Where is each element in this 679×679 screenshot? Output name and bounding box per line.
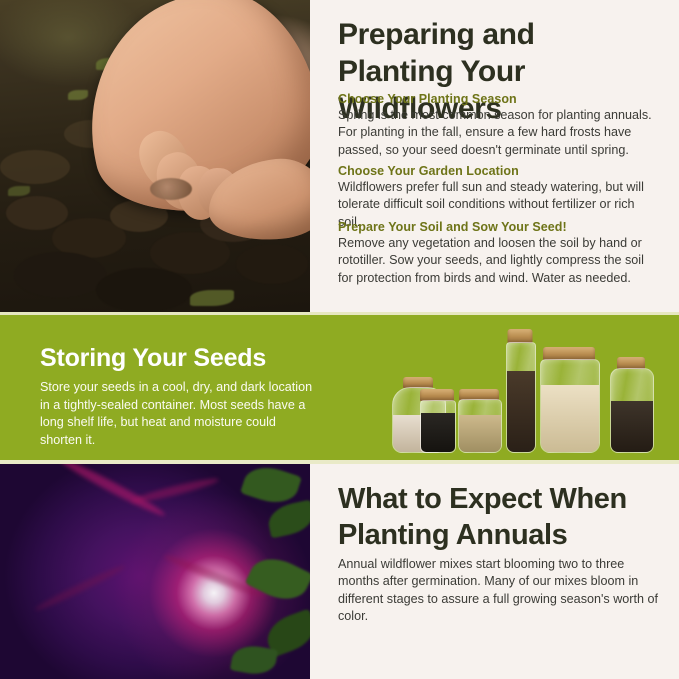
divider-top xyxy=(0,312,679,315)
heading-what-to-expect: What to Expect When Planting Annuals xyxy=(338,481,658,553)
tan-grain-jar xyxy=(458,389,500,451)
block-planting-season: Choose Your Planting Season Spring is th… xyxy=(338,92,660,159)
glass-jars-of-seeds-photo xyxy=(372,319,672,459)
block-prepare-soil: Prepare Your Soil and Sow Your Seed! Rem… xyxy=(338,220,660,287)
section-preparing-and-planting: Preparing and Planting Your Wildflowers … xyxy=(0,0,679,312)
dark-seeds-tube xyxy=(506,329,534,451)
expect-text-column: What to Expect When Planting Annuals Ann… xyxy=(310,464,679,679)
body-storing-your-seeds: Store your seeds in a cool, dry, and dar… xyxy=(40,379,318,449)
body-planting-season: Spring is the most common season for pla… xyxy=(338,107,660,159)
body-what-to-expect: Annual wildflower mixes start blooming t… xyxy=(338,556,660,626)
heading-storing-your-seeds: Storing Your Seeds xyxy=(40,343,340,373)
hands-planting-seeds-in-soil-photo xyxy=(0,0,310,312)
infographic-page: Preparing and Planting Your Wildflowers … xyxy=(0,0,679,679)
subhead-prepare-soil: Prepare Your Soil and Sow Your Seed! xyxy=(338,220,660,234)
preparing-text-column: Preparing and Planting Your Wildflowers … xyxy=(310,0,679,312)
purple-morning-glory-flower-photo xyxy=(0,464,310,679)
black-seeds-jar xyxy=(420,389,454,451)
seeds-in-palm xyxy=(150,178,192,200)
subhead-planting-season: Choose Your Planting Season xyxy=(338,92,660,106)
section-storing-your-seeds: Storing Your Seeds Store your seeds in a… xyxy=(0,312,679,464)
striped-seeds-jar xyxy=(610,357,652,451)
pale-flat-seeds-jar xyxy=(540,347,598,451)
subhead-garden-location: Choose Your Garden Location xyxy=(338,164,660,178)
body-prepare-soil: Remove any vegetation and loosen the soi… xyxy=(338,235,660,287)
section-what-to-expect: What to Expect When Planting Annuals Ann… xyxy=(0,464,679,679)
